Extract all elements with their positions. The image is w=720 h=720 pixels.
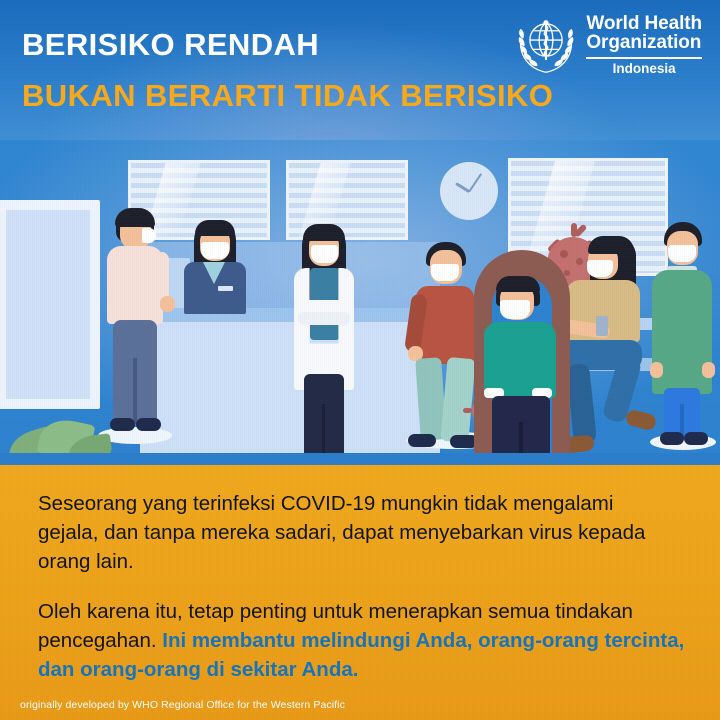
patient-hair-top [115,208,155,227]
walking-man-shoe-back [408,434,436,447]
who-country: Indonesia [586,62,702,76]
person-infected [468,250,578,465]
doctor-mask [311,245,338,263]
seated-woman-bangs [588,236,634,254]
person-green-gown [648,222,718,462]
person-doctor [288,224,360,464]
title-line-2: BUKAN BERARTI TIDAK BERISIKO [22,78,553,114]
message-panel: Seseorang yang terinfeksi COVID-19 mungk… [0,465,720,720]
clock-minute-hand [468,173,482,193]
credit-line: originally developed by WHO Regional Off… [20,699,345,711]
patient-leg-gap [133,358,137,424]
green-gown-shoe-right [684,432,708,445]
receptionist-bangs [195,220,235,236]
entrance-door [0,200,100,409]
patient-mask [142,228,156,243]
who-logo: World Health Organization Indonesia [515,14,702,76]
wall-clock [440,162,498,220]
message-paragraph-1: Seseorang yang terinfeksi COVID-19 mungk… [38,489,678,576]
seated-woman-mask [587,260,613,277]
title-line-1: BERISIKO RENDAH [22,27,319,63]
receptionist-name-badge [218,286,233,291]
scene-floor-strip [0,453,720,465]
infected-sweater [484,322,556,398]
doctor-leg-gap [322,404,325,456]
infected-mask [500,300,530,319]
who-line-2: Organization [586,33,702,52]
receptionist-mask [201,242,229,259]
who-divider [586,57,702,59]
walking-man-mask [431,264,459,281]
infected-bangs [496,276,540,292]
green-gown-shoe-left [660,432,684,445]
illustration-scene [0,140,720,465]
infographic-poster: BERISIKO RENDAH BUKAN BERARTI TIDAK BERI… [0,0,720,720]
green-gown-hand-left [650,362,663,378]
doctor-arm-crossed-lower [298,312,350,325]
door-glass-panel [6,210,90,399]
message-paragraph-2: Oleh karena itu, tetap penting untuk men… [38,597,690,684]
patient-shoe-right [136,418,161,431]
who-emblem-icon [515,14,577,76]
seated-woman-phone [596,316,608,336]
who-wordmark: World Health Organization Indonesia [586,14,702,76]
green-gown-mask [668,245,696,262]
poster-header: BERISIKO RENDAH BUKAN BERARTI TIDAK BERI… [0,0,720,140]
person-receptionist [170,220,256,315]
green-gown-hand-right [702,362,715,378]
who-line-1: World Health [586,14,702,33]
doctor-bangs [303,224,345,241]
